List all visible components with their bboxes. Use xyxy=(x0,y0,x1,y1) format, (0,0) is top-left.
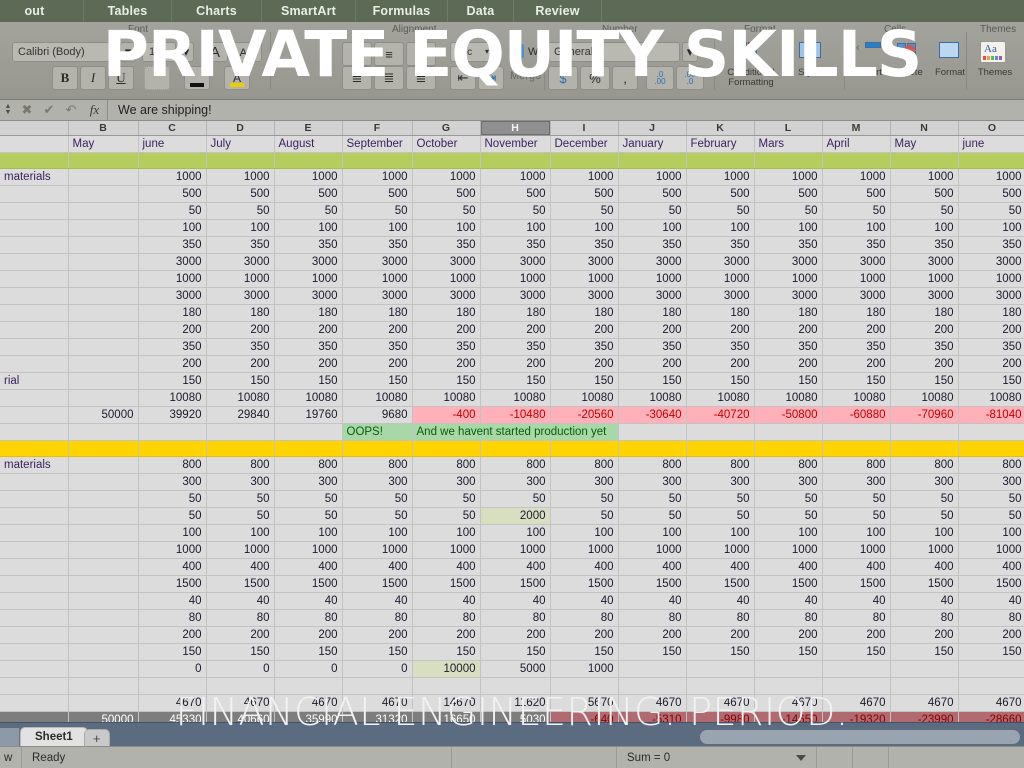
grid-cell[interactable]: 1500 xyxy=(412,575,480,592)
grid-cell[interactable]: 200 xyxy=(274,321,342,338)
grid-cell[interactable]: 800 xyxy=(822,456,890,473)
grid-cell[interactable]: 1000 xyxy=(754,168,822,185)
grid-cell[interactable] xyxy=(274,423,342,440)
grid-cell[interactable]: 1000 xyxy=(822,541,890,558)
row-label-cell[interactable]: materials xyxy=(0,168,68,185)
grid-cell[interactable]: 150 xyxy=(342,643,412,660)
grid-cell[interactable]: 200 xyxy=(958,626,1024,643)
grid-cell[interactable]: 50 xyxy=(958,490,1024,507)
grid-cell[interactable]: 300 xyxy=(958,473,1024,490)
grid-cell[interactable]: 10080 xyxy=(822,389,890,406)
grid-cell[interactable] xyxy=(0,287,68,304)
grid-cell[interactable]: 150 xyxy=(754,372,822,389)
grid-cell[interactable]: 100 xyxy=(550,219,618,236)
grid-cell[interactable]: 150 xyxy=(480,372,550,389)
grid-cell[interactable]: 1000 xyxy=(822,270,890,287)
grid-cell[interactable]: 180 xyxy=(618,304,686,321)
grid-cell[interactable]: 100 xyxy=(958,524,1024,541)
grid-cell[interactable]: 1000 xyxy=(754,270,822,287)
grid-cell[interactable]: 500 xyxy=(958,185,1024,202)
grid-cell[interactable] xyxy=(68,338,138,355)
grid-cell[interactable]: 40 xyxy=(138,592,206,609)
grid-cell[interactable]: 400 xyxy=(618,558,686,575)
grid-cell[interactable]: 10080 xyxy=(274,389,342,406)
grid-cell[interactable]: 150 xyxy=(412,643,480,660)
formula-input[interactable]: We are shipping! xyxy=(108,103,1024,117)
grid-cell[interactable]: 180 xyxy=(342,304,412,321)
grid-cell[interactable]: 1000 xyxy=(686,541,754,558)
grid-cell[interactable]: 100 xyxy=(206,219,274,236)
grid-cell[interactable]: 0 xyxy=(206,660,274,677)
grid-cell[interactable]: 1000 xyxy=(206,270,274,287)
grid-cell[interactable]: 10080 xyxy=(890,389,958,406)
grid-cell[interactable]: 150 xyxy=(550,372,618,389)
grid-cell[interactable]: 150 xyxy=(274,643,342,660)
grid-cell[interactable]: 150 xyxy=(550,643,618,660)
grid-cell[interactable]: 3000 xyxy=(342,253,412,270)
grid-cell[interactable]: 400 xyxy=(274,558,342,575)
grid-cell[interactable]: 10080 xyxy=(206,389,274,406)
grid-cell[interactable] xyxy=(0,473,68,490)
grid-cell[interactable]: 180 xyxy=(958,304,1024,321)
grid-cell[interactable] xyxy=(0,575,68,592)
grid-cell[interactable]: -30640 xyxy=(618,406,686,423)
grid-cell[interactable]: 300 xyxy=(206,473,274,490)
grid-cell[interactable]: 1500 xyxy=(342,575,412,592)
grid-cell[interactable] xyxy=(68,168,138,185)
grid-cell[interactable]: 300 xyxy=(550,473,618,490)
grid-cell[interactable]: 180 xyxy=(138,304,206,321)
grid-cell[interactable]: 29840 xyxy=(206,406,274,423)
grid-cell[interactable]: 50 xyxy=(412,202,480,219)
grid-cell[interactable]: 100 xyxy=(138,219,206,236)
grid-cell[interactable]: 50 xyxy=(618,507,686,524)
grid-cell[interactable]: 200 xyxy=(958,355,1024,372)
grid-cell[interactable]: 1000 xyxy=(550,168,618,185)
grid-cell[interactable] xyxy=(0,660,68,677)
grid-cell[interactable]: 1000 xyxy=(274,168,342,185)
month-header-cell[interactable]: Mars xyxy=(754,135,822,152)
grid-cell[interactable]: 10080 xyxy=(686,389,754,406)
grid-cell[interactable]: 200 xyxy=(274,626,342,643)
grid-cell[interactable]: 40 xyxy=(206,592,274,609)
grid-cell[interactable] xyxy=(68,507,138,524)
month-header-cell[interactable]: june xyxy=(138,135,206,152)
grid-cell[interactable]: 1500 xyxy=(890,575,958,592)
grid-cell[interactable]: 500 xyxy=(822,185,890,202)
column-header-H[interactable]: H xyxy=(480,121,550,135)
grid-cell[interactable]: 200 xyxy=(618,321,686,338)
grid-cell[interactable]: 500 xyxy=(890,185,958,202)
grid-cell[interactable]: 350 xyxy=(686,338,754,355)
grid-cell[interactable]: 350 xyxy=(686,236,754,253)
grid-cell[interactable]: 200 xyxy=(822,321,890,338)
grid-cell[interactable]: 300 xyxy=(754,473,822,490)
grid-cell[interactable]: 80 xyxy=(958,609,1024,626)
column-header-E[interactable]: E xyxy=(274,121,342,135)
grid-cell[interactable]: 350 xyxy=(754,338,822,355)
grid-cell[interactable]: 180 xyxy=(206,304,274,321)
grid-cell[interactable] xyxy=(618,660,686,677)
grid-cell[interactable] xyxy=(68,389,138,406)
grid-cell[interactable]: 1000 xyxy=(138,541,206,558)
grid-cell[interactable]: 800 xyxy=(480,456,550,473)
grid-cell[interactable]: 40 xyxy=(480,592,550,609)
grid-cell[interactable] xyxy=(754,423,822,440)
grid-cell[interactable]: 100 xyxy=(822,219,890,236)
grid-cell[interactable]: 200 xyxy=(138,321,206,338)
grid-cell[interactable] xyxy=(0,541,68,558)
grid-cell[interactable]: 500 xyxy=(686,185,754,202)
grid-cell[interactable]: 1000 xyxy=(480,541,550,558)
grid-cell[interactable]: 300 xyxy=(274,473,342,490)
grid-cell[interactable]: 3000 xyxy=(822,253,890,270)
grid-cell[interactable]: 10080 xyxy=(958,389,1024,406)
grid-cell[interactable]: 150 xyxy=(754,643,822,660)
grid-cell[interactable] xyxy=(68,355,138,372)
grid-cell[interactable]: 200 xyxy=(342,355,412,372)
grid-cell[interactable]: 3000 xyxy=(618,287,686,304)
grid-cell[interactable]: 1500 xyxy=(958,575,1024,592)
column-header-F[interactable]: F xyxy=(342,121,412,135)
grid-cell[interactable]: 150 xyxy=(138,643,206,660)
grid-cell[interactable]: 350 xyxy=(342,338,412,355)
grid-cell[interactable]: 150 xyxy=(822,643,890,660)
grid-cell[interactable] xyxy=(0,219,68,236)
grid-cell[interactable]: 350 xyxy=(890,338,958,355)
grid-cell[interactable]: 80 xyxy=(618,609,686,626)
grid-cell[interactable]: 1000 xyxy=(342,168,412,185)
grid-cell[interactable]: 3000 xyxy=(480,253,550,270)
grid-cell[interactable]: 800 xyxy=(274,456,342,473)
grid-cell[interactable]: 400 xyxy=(686,558,754,575)
month-header-cell[interactable]: May xyxy=(68,135,138,152)
grid-cell[interactable]: 150 xyxy=(342,372,412,389)
grid-cell[interactable]: 350 xyxy=(618,338,686,355)
grid-cell[interactable] xyxy=(68,575,138,592)
grid-cell[interactable]: 300 xyxy=(686,473,754,490)
grid-cell[interactable]: 180 xyxy=(274,304,342,321)
grid-cell[interactable]: 50000 xyxy=(68,406,138,423)
grid-cell[interactable]: 500 xyxy=(412,185,480,202)
grid-cell[interactable]: 200 xyxy=(206,321,274,338)
grid-cell[interactable]: 500 xyxy=(138,185,206,202)
grid-cell[interactable]: 1000 xyxy=(958,168,1024,185)
grid-cell[interactable]: 800 xyxy=(686,456,754,473)
grid-cell[interactable]: -60880 xyxy=(822,406,890,423)
grid-cell[interactable] xyxy=(618,423,686,440)
grid-cell[interactable]: 100 xyxy=(618,524,686,541)
grid-cell[interactable]: 150 xyxy=(138,372,206,389)
grid-cell[interactable]: 3000 xyxy=(206,287,274,304)
grid-cell[interactable]: 1000 xyxy=(618,541,686,558)
grid-cell[interactable]: 80 xyxy=(754,609,822,626)
grid-cell[interactable]: 10080 xyxy=(412,389,480,406)
grid-cell[interactable]: 200 xyxy=(480,626,550,643)
grid-cell[interactable]: 150 xyxy=(412,372,480,389)
grid-cell[interactable]: 800 xyxy=(890,456,958,473)
grid-cell[interactable] xyxy=(0,524,68,541)
grid-cell[interactable] xyxy=(958,660,1024,677)
grid-cell[interactable]: 150 xyxy=(618,643,686,660)
grid-cell[interactable]: 200 xyxy=(686,355,754,372)
grid-cell[interactable]: 1500 xyxy=(480,575,550,592)
month-header-cell[interactable]: July xyxy=(206,135,274,152)
grid-cell[interactable]: 100 xyxy=(412,524,480,541)
grid-cell[interactable]: -20560 xyxy=(550,406,618,423)
grid-cell[interactable]: 150 xyxy=(822,372,890,389)
grid-cell[interactable]: 40 xyxy=(618,592,686,609)
grid-cell[interactable]: 100 xyxy=(822,524,890,541)
grid-cell[interactable] xyxy=(68,609,138,626)
grid-cell[interactable] xyxy=(68,473,138,490)
grid-cell[interactable]: 1000 xyxy=(890,270,958,287)
grid-cell[interactable]: 400 xyxy=(342,558,412,575)
select-all-corner[interactable] xyxy=(0,121,68,135)
month-header-cell[interactable]: January xyxy=(618,135,686,152)
grid-cell[interactable] xyxy=(206,423,274,440)
grid-cell[interactable]: 80 xyxy=(480,609,550,626)
grid-cell[interactable]: 1000 xyxy=(342,541,412,558)
grid-cell[interactable]: 150 xyxy=(890,643,958,660)
grid-cell[interactable]: 100 xyxy=(754,219,822,236)
grid-cell[interactable]: 100 xyxy=(206,524,274,541)
grid-cell[interactable] xyxy=(68,643,138,660)
grid-cell[interactable] xyxy=(0,270,68,287)
grid-cell[interactable]: 3000 xyxy=(890,253,958,270)
grid-cell[interactable]: 3000 xyxy=(138,253,206,270)
grid-cell[interactable]: 180 xyxy=(412,304,480,321)
grid-cell[interactable]: 350 xyxy=(754,236,822,253)
grid-cell[interactable]: 50 xyxy=(686,202,754,219)
grid-cell[interactable]: 50 xyxy=(890,202,958,219)
grid-cell[interactable]: -70960 xyxy=(890,406,958,423)
grid-cell[interactable]: 1000 xyxy=(412,270,480,287)
grid-cell[interactable]: 50 xyxy=(550,507,618,524)
grid-cell[interactable]: 200 xyxy=(138,626,206,643)
grid-cell[interactable]: -81040 xyxy=(958,406,1024,423)
grid-cell[interactable]: 40 xyxy=(754,592,822,609)
column-header-M[interactable]: M xyxy=(822,121,890,135)
grid-cell[interactable]: 1000 xyxy=(550,270,618,287)
grid-cell[interactable]: 3000 xyxy=(412,287,480,304)
grid-cell[interactable]: 1000 xyxy=(412,541,480,558)
grid-cell[interactable]: 200 xyxy=(686,321,754,338)
grid-cell[interactable]: 800 xyxy=(550,456,618,473)
grid-cell[interactable]: 500 xyxy=(754,185,822,202)
grid-cell[interactable]: 3000 xyxy=(822,287,890,304)
grid-cell[interactable]: 80 xyxy=(138,609,206,626)
grid-cell[interactable]: 200 xyxy=(754,321,822,338)
grid-cell[interactable]: 500 xyxy=(480,185,550,202)
grid-cell[interactable]: 50 xyxy=(138,202,206,219)
spreadsheet-grid[interactable]: BCDEFGHIJKLMNOMayjuneJulyAugustSeptember… xyxy=(0,121,1024,722)
chevron-down-icon[interactable] xyxy=(796,755,806,761)
grid-cell[interactable]: 180 xyxy=(686,304,754,321)
grid-cell[interactable]: 200 xyxy=(890,355,958,372)
grid-cell[interactable] xyxy=(68,558,138,575)
grid-cell[interactable]: 400 xyxy=(480,558,550,575)
grid-cell[interactable]: 400 xyxy=(958,558,1024,575)
grid-cell[interactable]: 1000 xyxy=(686,270,754,287)
grid-cell[interactable]: 200 xyxy=(138,355,206,372)
grid-cell[interactable]: 50 xyxy=(480,202,550,219)
grid-cell[interactable]: 350 xyxy=(206,236,274,253)
grid-cell[interactable] xyxy=(0,626,68,643)
grid-cell[interactable]: 3000 xyxy=(958,287,1024,304)
grid-cell[interactable]: 350 xyxy=(206,338,274,355)
grid-cell[interactable]: 50 xyxy=(342,490,412,507)
grid-cell[interactable]: 150 xyxy=(274,372,342,389)
grid-cell[interactable]: 800 xyxy=(342,456,412,473)
grid-cell[interactable]: 100 xyxy=(480,524,550,541)
grid-cell[interactable]: 50 xyxy=(138,507,206,524)
grid-cell[interactable]: 350 xyxy=(342,236,412,253)
grid-cell[interactable]: 200 xyxy=(480,321,550,338)
grid-cell[interactable]: -50800 xyxy=(754,406,822,423)
grid-cell[interactable] xyxy=(0,558,68,575)
grid-cell[interactable]: 3000 xyxy=(480,287,550,304)
grid-cell[interactable]: 800 xyxy=(958,456,1024,473)
grid-cell[interactable]: 50 xyxy=(618,490,686,507)
grid-cell[interactable]: 50 xyxy=(206,202,274,219)
column-header-L[interactable]: L xyxy=(754,121,822,135)
grid-cell[interactable]: 80 xyxy=(274,609,342,626)
grid-cell[interactable]: 350 xyxy=(890,236,958,253)
grid-cell[interactable]: 150 xyxy=(958,643,1024,660)
grid-cell[interactable]: 0 xyxy=(274,660,342,677)
grid-cell[interactable]: 50 xyxy=(342,202,412,219)
grid-cell[interactable]: 3000 xyxy=(618,253,686,270)
grid-cell[interactable]: 150 xyxy=(480,643,550,660)
grid-cell[interactable]: 39920 xyxy=(138,406,206,423)
grid-cell[interactable]: 50 xyxy=(618,202,686,219)
grid-cell[interactable]: 80 xyxy=(686,609,754,626)
grid-cell[interactable]: 800 xyxy=(754,456,822,473)
grid-cell[interactable] xyxy=(68,524,138,541)
grid-cell[interactable]: 300 xyxy=(342,473,412,490)
grid-cell[interactable]: 800 xyxy=(138,456,206,473)
grid-cell[interactable]: 1000 xyxy=(822,168,890,185)
grid-cell[interactable]: 350 xyxy=(822,338,890,355)
grid-cell[interactable]: 400 xyxy=(206,558,274,575)
grid-cell[interactable] xyxy=(68,287,138,304)
grid-cell[interactable] xyxy=(890,423,958,440)
month-header-cell[interactable]: September xyxy=(342,135,412,152)
column-header-B[interactable]: B xyxy=(68,121,138,135)
grid-cell[interactable]: 2000 xyxy=(480,507,550,524)
grid-cell[interactable]: 10080 xyxy=(550,389,618,406)
grid-cell[interactable] xyxy=(68,185,138,202)
grid-cell[interactable]: 500 xyxy=(274,185,342,202)
grid-cell[interactable] xyxy=(0,406,68,423)
grid-cell[interactable]: -400 xyxy=(412,406,480,423)
grid-cell[interactable] xyxy=(68,304,138,321)
grid-cell[interactable] xyxy=(0,423,68,440)
grid-cell[interactable]: 200 xyxy=(550,355,618,372)
grid-cell[interactable] xyxy=(68,219,138,236)
grid-cell[interactable]: 150 xyxy=(890,372,958,389)
grid-cell[interactable]: 350 xyxy=(618,236,686,253)
grid-cell[interactable]: 180 xyxy=(822,304,890,321)
grid-cell[interactable] xyxy=(68,423,138,440)
grid-cell[interactable]: 1500 xyxy=(618,575,686,592)
month-header-cell[interactable]: May xyxy=(890,135,958,152)
grid-cell[interactable] xyxy=(68,592,138,609)
grid-cell[interactable]: 80 xyxy=(822,609,890,626)
grid-cell[interactable]: 800 xyxy=(618,456,686,473)
grid-cell[interactable]: 1000 xyxy=(480,270,550,287)
grid-cell[interactable]: 300 xyxy=(138,473,206,490)
grid-cell[interactable]: 100 xyxy=(686,219,754,236)
grid-cell[interactable]: 200 xyxy=(822,626,890,643)
grid-cell[interactable] xyxy=(0,643,68,660)
grid-cell[interactable]: 100 xyxy=(890,524,958,541)
grid-cell[interactable] xyxy=(68,626,138,643)
grid-cell[interactable]: 0 xyxy=(342,660,412,677)
grid-cell[interactable]: 3000 xyxy=(206,253,274,270)
grid-cell[interactable]: 150 xyxy=(206,372,274,389)
grid-cell[interactable]: 100 xyxy=(274,524,342,541)
grid-cell[interactable]: 200 xyxy=(754,626,822,643)
grid-cell[interactable] xyxy=(0,338,68,355)
grid-cell[interactable] xyxy=(0,304,68,321)
grid-cell[interactable]: 350 xyxy=(480,338,550,355)
grid-cell[interactable]: 40 xyxy=(686,592,754,609)
note-production-message[interactable]: And we havent started production yet xyxy=(412,423,618,440)
grid-cell[interactable]: 1000 xyxy=(342,270,412,287)
grid-cell[interactable]: 50 xyxy=(274,202,342,219)
grid-cell[interactable]: 50 xyxy=(412,507,480,524)
grid-cell[interactable]: 1500 xyxy=(138,575,206,592)
grid-cell[interactable]: 3000 xyxy=(754,253,822,270)
grid-cell[interactable]: 200 xyxy=(412,321,480,338)
grid-cell[interactable]: 200 xyxy=(274,355,342,372)
grid-cell[interactable]: 50 xyxy=(138,490,206,507)
grid-cell[interactable]: 3000 xyxy=(754,287,822,304)
grid-cell[interactable]: 350 xyxy=(412,338,480,355)
grid-cell[interactable]: 80 xyxy=(890,609,958,626)
grid-cell[interactable] xyxy=(68,202,138,219)
grid-cell[interactable]: 10080 xyxy=(342,389,412,406)
function-icon[interactable]: fx xyxy=(82,100,108,121)
grid-cell[interactable]: 80 xyxy=(550,609,618,626)
column-header-N[interactable]: N xyxy=(890,121,958,135)
grid-cell[interactable]: 3000 xyxy=(686,287,754,304)
grid-cell[interactable]: 180 xyxy=(754,304,822,321)
grid-cell[interactable] xyxy=(822,660,890,677)
grid-cell[interactable]: 200 xyxy=(754,355,822,372)
grid-cell[interactable]: 1000 xyxy=(206,168,274,185)
grid-cell[interactable]: 1000 xyxy=(890,541,958,558)
grid-cell[interactable]: 100 xyxy=(686,524,754,541)
grid-cell[interactable]: 150 xyxy=(958,372,1024,389)
grid-cell[interactable] xyxy=(0,592,68,609)
grid-cell[interactable]: 350 xyxy=(822,236,890,253)
grid-cell[interactable] xyxy=(0,490,68,507)
grid-cell[interactable]: 10080 xyxy=(618,389,686,406)
grid-cell[interactable]: 1500 xyxy=(206,575,274,592)
grid-cell[interactable] xyxy=(0,185,68,202)
grid-cell[interactable]: 50 xyxy=(550,202,618,219)
grid-cell[interactable]: 1000 xyxy=(480,168,550,185)
grid-cell[interactable]: 200 xyxy=(618,626,686,643)
grid-cell[interactable]: 50 xyxy=(274,490,342,507)
grid-cell[interactable]: 100 xyxy=(890,219,958,236)
grid-cell[interactable]: 180 xyxy=(890,304,958,321)
grid-cell[interactable]: 1000 xyxy=(550,660,618,677)
grid-cell[interactable]: 1500 xyxy=(754,575,822,592)
